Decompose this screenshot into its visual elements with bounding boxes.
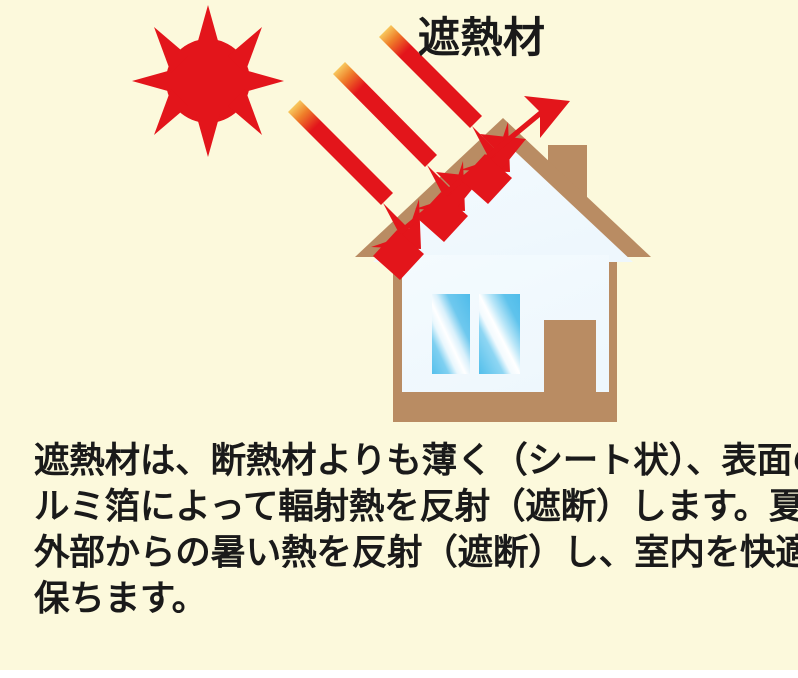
caption-line: ルミ箔によって輻射熱を反射（遮断）します。夏は — [34, 484, 774, 530]
illustration-page: 遮熱材 遮熱材は、断熱材よりも薄く（シート状）、表面のア ルミ箔によって輻射熱を… — [0, 0, 798, 678]
caption-line: 外部からの暑い熱を反射（遮断）し、室内を快適に — [34, 530, 774, 576]
house-window-right — [479, 294, 520, 374]
house-door — [544, 320, 596, 402]
caption-line: 保ちます。 — [34, 576, 774, 622]
caption-line: 遮熱材は、断熱材よりも薄く（シート状）、表面のア — [34, 438, 774, 484]
caption-block: 遮熱材は、断熱材よりも薄く（シート状）、表面のア ルミ箔によって輻射熱を反射（遮… — [34, 438, 774, 622]
thermal-barrier-diagram — [0, 0, 798, 440]
house-base — [393, 392, 617, 422]
sun-icon — [132, 5, 284, 157]
page-title: 遮熱材 — [418, 14, 546, 62]
house-window-left — [432, 294, 470, 374]
